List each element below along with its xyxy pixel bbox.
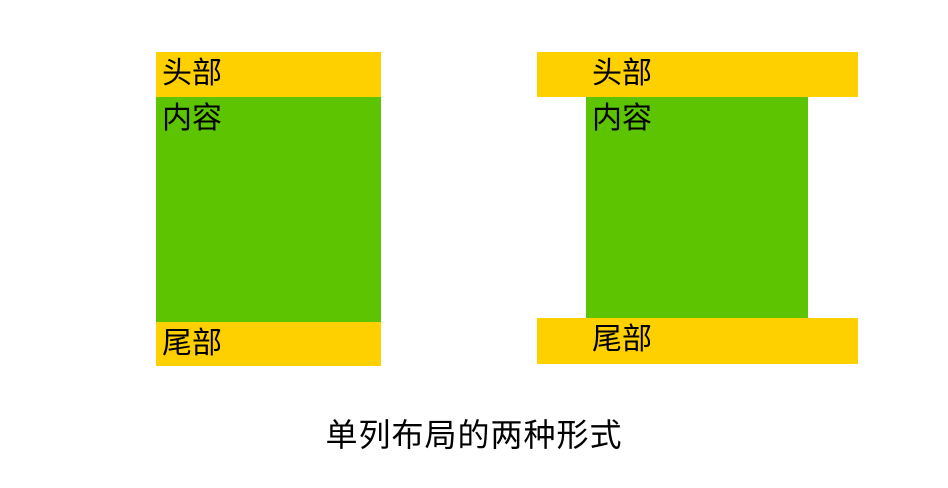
diagram-b-header-label: 头部: [592, 56, 652, 91]
diagram-b-footer-block: 尾部: [537, 318, 858, 364]
diagram-b-header-block: 头部: [537, 52, 858, 97]
diagram-b-content-label: 内容: [592, 101, 652, 136]
diagram-b-content-block: 内容: [586, 97, 808, 318]
figure-canvas: 头部 内容 尾部 头部 内容 尾部 单列布局的两种形式: [0, 0, 948, 488]
diagram-b-footer-label: 尾部: [592, 322, 652, 357]
figure-caption: 单列布局的两种形式: [0, 415, 948, 455]
